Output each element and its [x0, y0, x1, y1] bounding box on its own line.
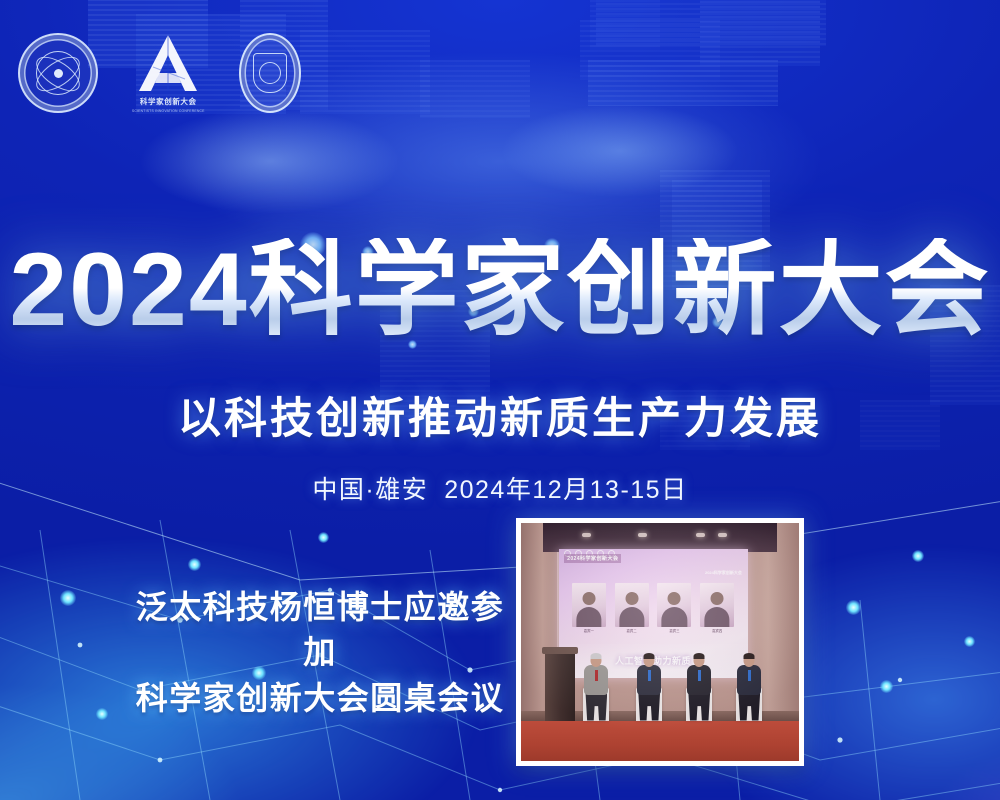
- event-dates: 2024年12月13-15日: [444, 476, 687, 504]
- caption-line-2: 科学家创新大会圆桌会议: [120, 676, 520, 721]
- triangle-logo-subline: SCIENTISTS INNOVATION CONFERENCE: [132, 109, 205, 113]
- panelist-name: 嘉宾四: [700, 629, 734, 634]
- ceiling-spotlight: [638, 533, 647, 537]
- conference-poster: 科学家创新大会 SCIENTISTS INNOVATION CONFERENCE…: [0, 0, 1000, 800]
- page-subtitle: 以科技创新推动新质生产力发展: [0, 384, 1000, 446]
- panelist-card-row: 嘉宾一 嘉宾二 嘉宾三 嘉宾四: [572, 583, 735, 634]
- podium: [545, 652, 576, 721]
- roundtable-panel-photo: 2024科学家创新大会 嘉宾一 嘉宾二 嘉宾三: [516, 518, 804, 766]
- ceiling-band: [543, 523, 777, 552]
- seated-panelist: [682, 647, 716, 721]
- logo-oval-seal: [239, 33, 301, 113]
- event-caption: 泛太科技杨恒博士应邀参加 科学家创新大会圆桌会议: [120, 585, 520, 721]
- panelist-card: 嘉宾四: [700, 583, 734, 634]
- panelist-card: 嘉宾三: [657, 583, 691, 634]
- oval-seal-icon: [239, 33, 301, 113]
- seated-panelist: [579, 647, 613, 721]
- organizer-logos: 科学家创新大会 SCIENTISTS INNOVATION CONFERENCE: [18, 33, 301, 113]
- panelist-name: 嘉宾一: [572, 629, 606, 634]
- cast-seal-icon: [18, 33, 98, 113]
- caption-line-1: 泛太科技杨恒博士应邀参加: [120, 585, 520, 676]
- seated-panelist: [732, 647, 766, 721]
- ceiling-spotlight: [718, 533, 727, 537]
- panelist-card: 嘉宾二: [615, 583, 649, 634]
- panelist-name: 嘉宾二: [615, 629, 649, 634]
- photo-inner: 2024科学家创新大会 嘉宾一 嘉宾二 嘉宾三: [521, 523, 799, 761]
- ceiling-spotlight: [582, 533, 591, 537]
- stage-carpet: [521, 721, 799, 761]
- ceiling-spotlight: [696, 533, 705, 537]
- triangle-logo-wordmark: 科学家创新大会: [140, 98, 197, 106]
- event-location: 中国·雄安: [312, 476, 428, 504]
- seated-panelist: [632, 647, 666, 721]
- screen-header-right: 2024科学家创新大会: [705, 570, 742, 575]
- event-dateline: 中国·雄安2024年12月13-15日: [0, 470, 1000, 506]
- panelist-card: 嘉宾一: [572, 583, 606, 634]
- triangle-a-icon: [135, 33, 201, 95]
- logo-cast-seal: [18, 33, 98, 113]
- screen-banner-text: 2024科学家创新大会: [564, 554, 621, 563]
- panelist-name: 嘉宾三: [657, 629, 691, 634]
- logo-conference-triangle: 科学家创新大会 SCIENTISTS INNOVATION CONFERENCE: [130, 33, 207, 113]
- page-title: 2024科学家创新大会: [0, 238, 1000, 342]
